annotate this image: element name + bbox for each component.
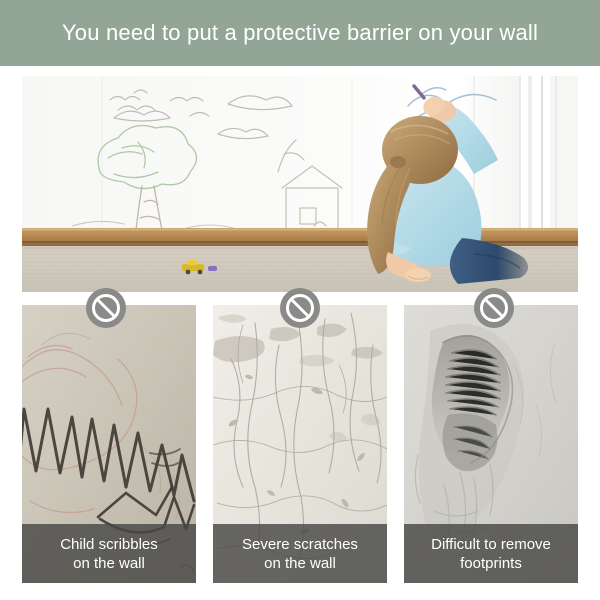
panel-difficult-footprints[interactable]: Difficult to remove footprints (404, 305, 578, 583)
panel-child-scribbles[interactable]: Child scribbles on the wall (22, 305, 196, 583)
panel-severe-scratches[interactable]: Severe scratches on the wall (213, 305, 387, 583)
panel-caption: Child scribbles on the wall (22, 524, 196, 583)
panel-caption: Severe scratches on the wall (213, 524, 387, 583)
caption-line-1: Child scribbles (60, 535, 158, 554)
caption-line-2: on the wall (73, 554, 145, 573)
caption-line-2: on the wall (264, 554, 336, 573)
hero-illustration (22, 76, 578, 292)
prohibition-icon-scratches (280, 288, 320, 328)
caption-line-1: Difficult to remove (431, 535, 551, 554)
caption-line-1: Severe scratches (242, 535, 358, 554)
page-title: You need to put a protective barrier on … (62, 20, 538, 46)
prohibition-icon (86, 288, 126, 328)
hero-photo (22, 76, 578, 292)
header-band: You need to put a protective barrier on … (0, 0, 600, 66)
promo-banner: You need to put a protective barrier on … (0, 0, 600, 600)
prohibition-icon-footprints (474, 288, 514, 328)
problem-panel-row: Child scribbles on the wall (22, 305, 578, 583)
prohibition-icon-scribbles (86, 288, 126, 328)
prohibition-icon (280, 288, 320, 328)
panel-caption: Difficult to remove footprints (404, 524, 578, 583)
caption-line-2: footprints (460, 554, 522, 573)
prohibition-icon (474, 288, 514, 328)
